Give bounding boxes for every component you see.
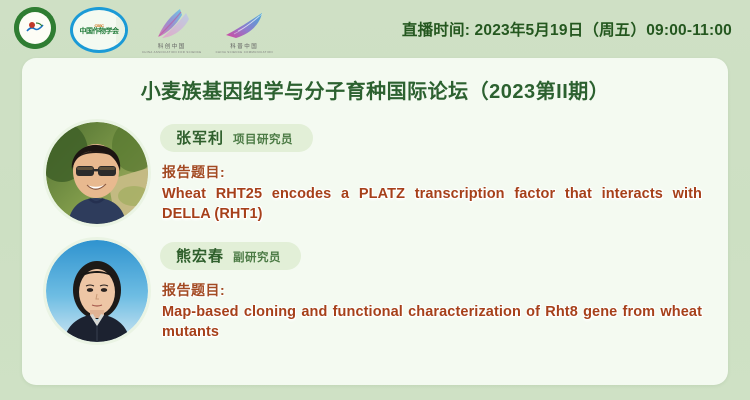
avatar-photo-man-sunglasses (46, 122, 148, 224)
poster-root: CSSC 中国作物学会 (0, 0, 750, 400)
green-seal-icon (14, 7, 56, 49)
topic-label: 报告题目: (162, 162, 716, 182)
fan-gradient-icon (222, 7, 266, 43)
topic-label: 报告题目: (162, 280, 716, 300)
content-card: 小麦族基因组学与分子育种国际论坛（2023第II期） (22, 58, 728, 385)
speaker-name: 张军利 (176, 127, 224, 148)
page-title: 小麦族基因组学与分子育种国际论坛（2023第II期） (22, 80, 728, 104)
logo-kechuang-zhongguo: 科创中国 CHINA ASSOCIATION FOR SCIENCE (142, 7, 202, 55)
logo-caption-main: 科创中国 (158, 44, 186, 50)
topic-text: Wheat RHT25 encodes a PLATZ transcriptio… (162, 185, 702, 224)
logo-oval-label: CSSC 中国作物学会 (80, 24, 119, 35)
avatar-xiong-hongchun (46, 240, 148, 342)
topic-text: Map-based cloning and functional charact… (162, 303, 702, 342)
avatar-container (42, 238, 152, 342)
list-item: 张军利 项目研究员 报告题目: Wheat RHT25 encodes a PL… (42, 120, 716, 224)
list-item: 熊宏春 副研究员 报告题目: Map-based cloning and fun… (42, 238, 716, 342)
speaker-name-badge: 张军利 项目研究员 (160, 124, 313, 152)
logo-kepu-zhongguo: 科普中国 CHINA SCIENCE COMMUNICATION (216, 7, 273, 55)
logo-caption: 科普中国 CHINA SCIENCE COMMUNICATION (216, 44, 273, 55)
logo-caption-main: 科普中国 (230, 44, 258, 50)
avatar-photo-woman-blue-bg (46, 240, 148, 342)
speaker-role: 副研究员 (233, 249, 281, 265)
logo-oval-text: 中国作物学会 (80, 28, 119, 35)
avatar-zhang-junli (46, 122, 148, 224)
logo-caption-sub: CHINA ASSOCIATION FOR SCIENCE (142, 51, 202, 55)
speaker-list: 张军利 项目研究员 报告题目: Wheat RHT25 encodes a PL… (22, 120, 728, 342)
logo-strip: CSSC 中国作物学会 (14, 4, 273, 55)
header-bar: CSSC 中国作物学会 (0, 0, 750, 58)
speaker-name-badge: 熊宏春 副研究员 (160, 242, 301, 270)
avatar-container (42, 120, 152, 224)
speaker-details: 张军利 项目研究员 报告题目: Wheat RHT25 encodes a PL… (152, 120, 716, 224)
speaker-name: 熊宏春 (176, 245, 224, 266)
seal-inner-mark-icon (25, 20, 45, 36)
logo-oval-cwga: CSSC 中国作物学会 (70, 7, 128, 53)
logo-seal-green (14, 7, 56, 49)
logo-caption: 科创中国 CHINA ASSOCIATION FOR SCIENCE (142, 44, 202, 55)
live-time-text: 直播时间: 2023年5月19日（周五）09:00-11:00 (402, 18, 732, 40)
speaker-details: 熊宏春 副研究员 报告题目: Map-based cloning and fun… (152, 238, 716, 342)
logo-caption-sub: CHINA SCIENCE COMMUNICATION (216, 51, 273, 55)
oval-ring-icon: CSSC 中国作物学会 (70, 7, 128, 53)
wing-gradient-icon (150, 7, 194, 43)
speaker-role: 项目研究员 (233, 131, 293, 147)
